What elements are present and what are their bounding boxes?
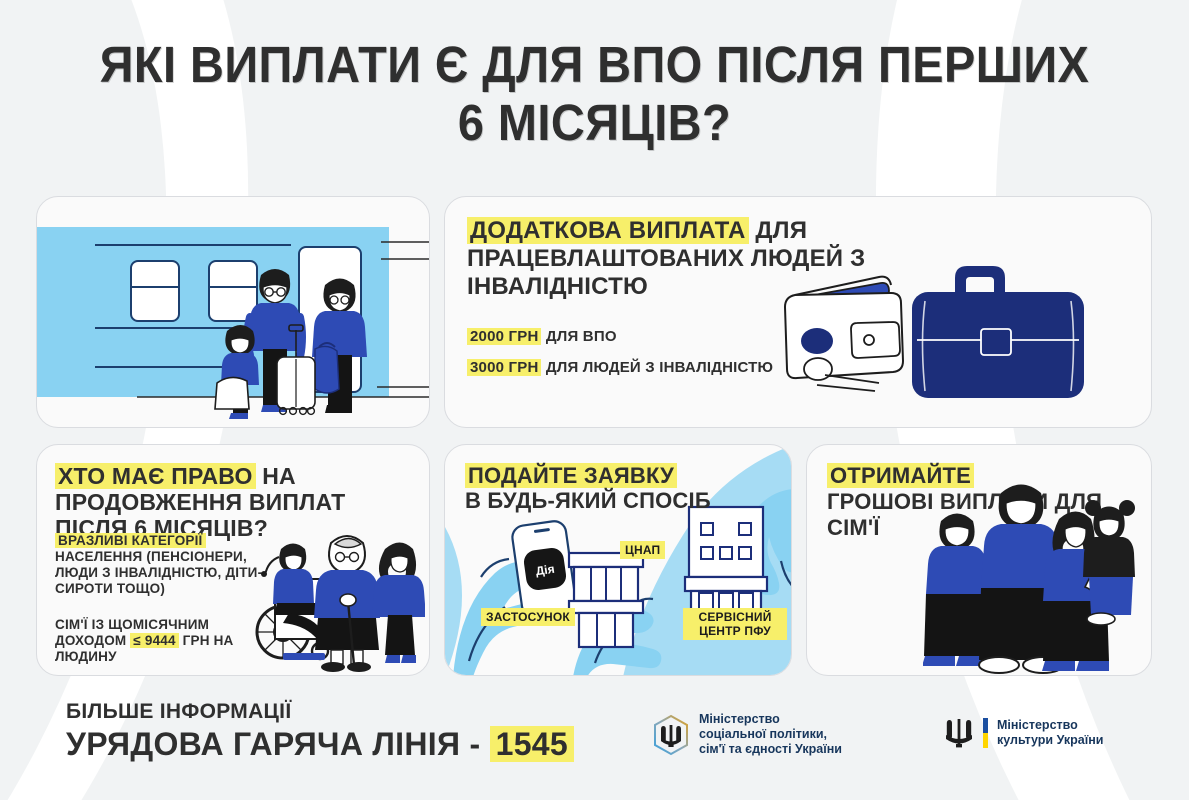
phone-app-label: Дія bbox=[535, 562, 556, 578]
heading-highlight: ХТО МАЄ ПРАВО bbox=[55, 463, 256, 489]
amount-row: 3000 ГРН ДЛЯ ЛЮДЕЙ З ІНВАЛІДНІСТЮ bbox=[467, 359, 773, 377]
trident-icon bbox=[944, 716, 974, 750]
elderly-woman-icon bbox=[314, 536, 380, 672]
train-family-illustration bbox=[37, 197, 430, 428]
card-receive-payments: ОТРИМАЙТЕГРОШОВІ ВИПЛАТИ ДЛЯ СІМ'Ї bbox=[806, 444, 1152, 676]
family-illustration bbox=[923, 479, 1143, 675]
heading-rest: В БУДЬ-ЯКИЙ СПОСІБ bbox=[465, 488, 711, 513]
young-woman-icon bbox=[372, 543, 425, 664]
ukraine-flag-bar bbox=[983, 718, 988, 748]
amount-label: ДЛЯ ВПО bbox=[541, 328, 616, 345]
logo-social-text: Міністерство соціальної політики, сім'ї … bbox=[699, 712, 842, 757]
amount-label: ДЛЯ ЛЮДЕЙ З ІНВАЛІДНІСТЮ bbox=[541, 359, 773, 376]
footer-hotline-number[interactable]: 1545 bbox=[490, 726, 574, 762]
card-apply-methods: Дія bbox=[444, 444, 792, 676]
footer-hotline-label: УРЯДОВА ГАРЯЧА ЛІНІЯ - bbox=[66, 726, 490, 762]
tag-app[interactable]: ЗАСТОСУНОК bbox=[481, 608, 575, 626]
heading-highlight: ПОДАЙТЕ ЗАЯВКУ bbox=[465, 463, 677, 488]
amount-list: 2000 ГРН ДЛЯ ВПО 3000 ГРН ДЛЯ ЛЮДЕЙ З ІН… bbox=[467, 328, 773, 390]
footer-contact: БІЛЬШЕ ІНФОРМАЦІЇ УРЯДОВА ГАРЯЧА ЛІНІЯ -… bbox=[66, 700, 574, 763]
infographic-page: ЯКІ ВИПЛАТИ Є ДЛЯ ВПО ПІСЛЯ ПЕРШИХ 6 МІС… bbox=[0, 0, 1189, 800]
footer-hotline: УРЯДОВА ГАРЯЧА ЛІНІЯ - 1545 bbox=[66, 725, 574, 763]
logo-culture-text: Міністерство культури України bbox=[997, 718, 1103, 748]
card-who-is-eligible: ХТО МАЄ ПРАВО НА ПРОДОВЖЕННЯ ВИПЛАТ ПІСЛ… bbox=[36, 444, 430, 676]
footer-more-info: БІЛЬШЕ ІНФОРМАЦІЇ bbox=[66, 700, 574, 724]
briefcase-icon bbox=[912, 266, 1084, 398]
card-apply-heading: ПОДАЙТЕ ЗАЯВКУВ БУДЬ-ЯКИЙ СПОСІБ bbox=[465, 463, 711, 513]
amount-value: 2000 ГРН bbox=[467, 328, 541, 345]
eligibility-highlight: ВРАЗЛИВІ КАТЕГОРІЇ bbox=[55, 533, 206, 548]
amount-value: 3000 ГРН bbox=[467, 359, 541, 376]
toddler-girl-icon bbox=[1083, 500, 1135, 625]
phone-dia-icon: Дія bbox=[511, 520, 577, 619]
card-additional-payment: ДОДАТКОВА ВИПЛАТА ДЛЯ ПРАЦЕВЛАШТОВАНИХ Л… bbox=[444, 196, 1152, 428]
heading-highlight: ДОДАТКОВА ВИПЛАТА bbox=[467, 217, 749, 244]
logo-ministry-culture: Міністерство культури України bbox=[944, 716, 1103, 750]
tag-pfu[interactable]: СЕРВІСНИЙ ЦЕНТР ПФУ bbox=[683, 608, 787, 640]
vulnerable-people-illustration bbox=[215, 515, 425, 675]
tag-cnap[interactable]: ЦНАП bbox=[620, 541, 665, 559]
page-title-line1: ЯКІ ВИПЛАТИ Є ДЛЯ ВПО ПІСЛЯ ПЕРШИХ bbox=[100, 36, 1090, 93]
income-threshold: ≤ 9444 bbox=[130, 633, 178, 648]
page-title-line2: 6 МІСЯЦІВ? bbox=[48, 94, 1142, 152]
amount-row: 2000 ГРН ДЛЯ ВПО bbox=[467, 328, 773, 346]
wallet-briefcase-illustration bbox=[765, 245, 1145, 425]
trident-hexagon-icon bbox=[652, 714, 690, 756]
wallet-icon bbox=[785, 277, 903, 391]
page-title: ЯКІ ВИПЛАТИ Є ДЛЯ ВПО ПІСЛЯ ПЕРШИХ 6 МІС… bbox=[48, 36, 1142, 152]
card-train-illustration bbox=[36, 196, 430, 428]
logo-ministry-social-policy: Міністерство соціальної політики, сім'ї … bbox=[652, 712, 842, 757]
